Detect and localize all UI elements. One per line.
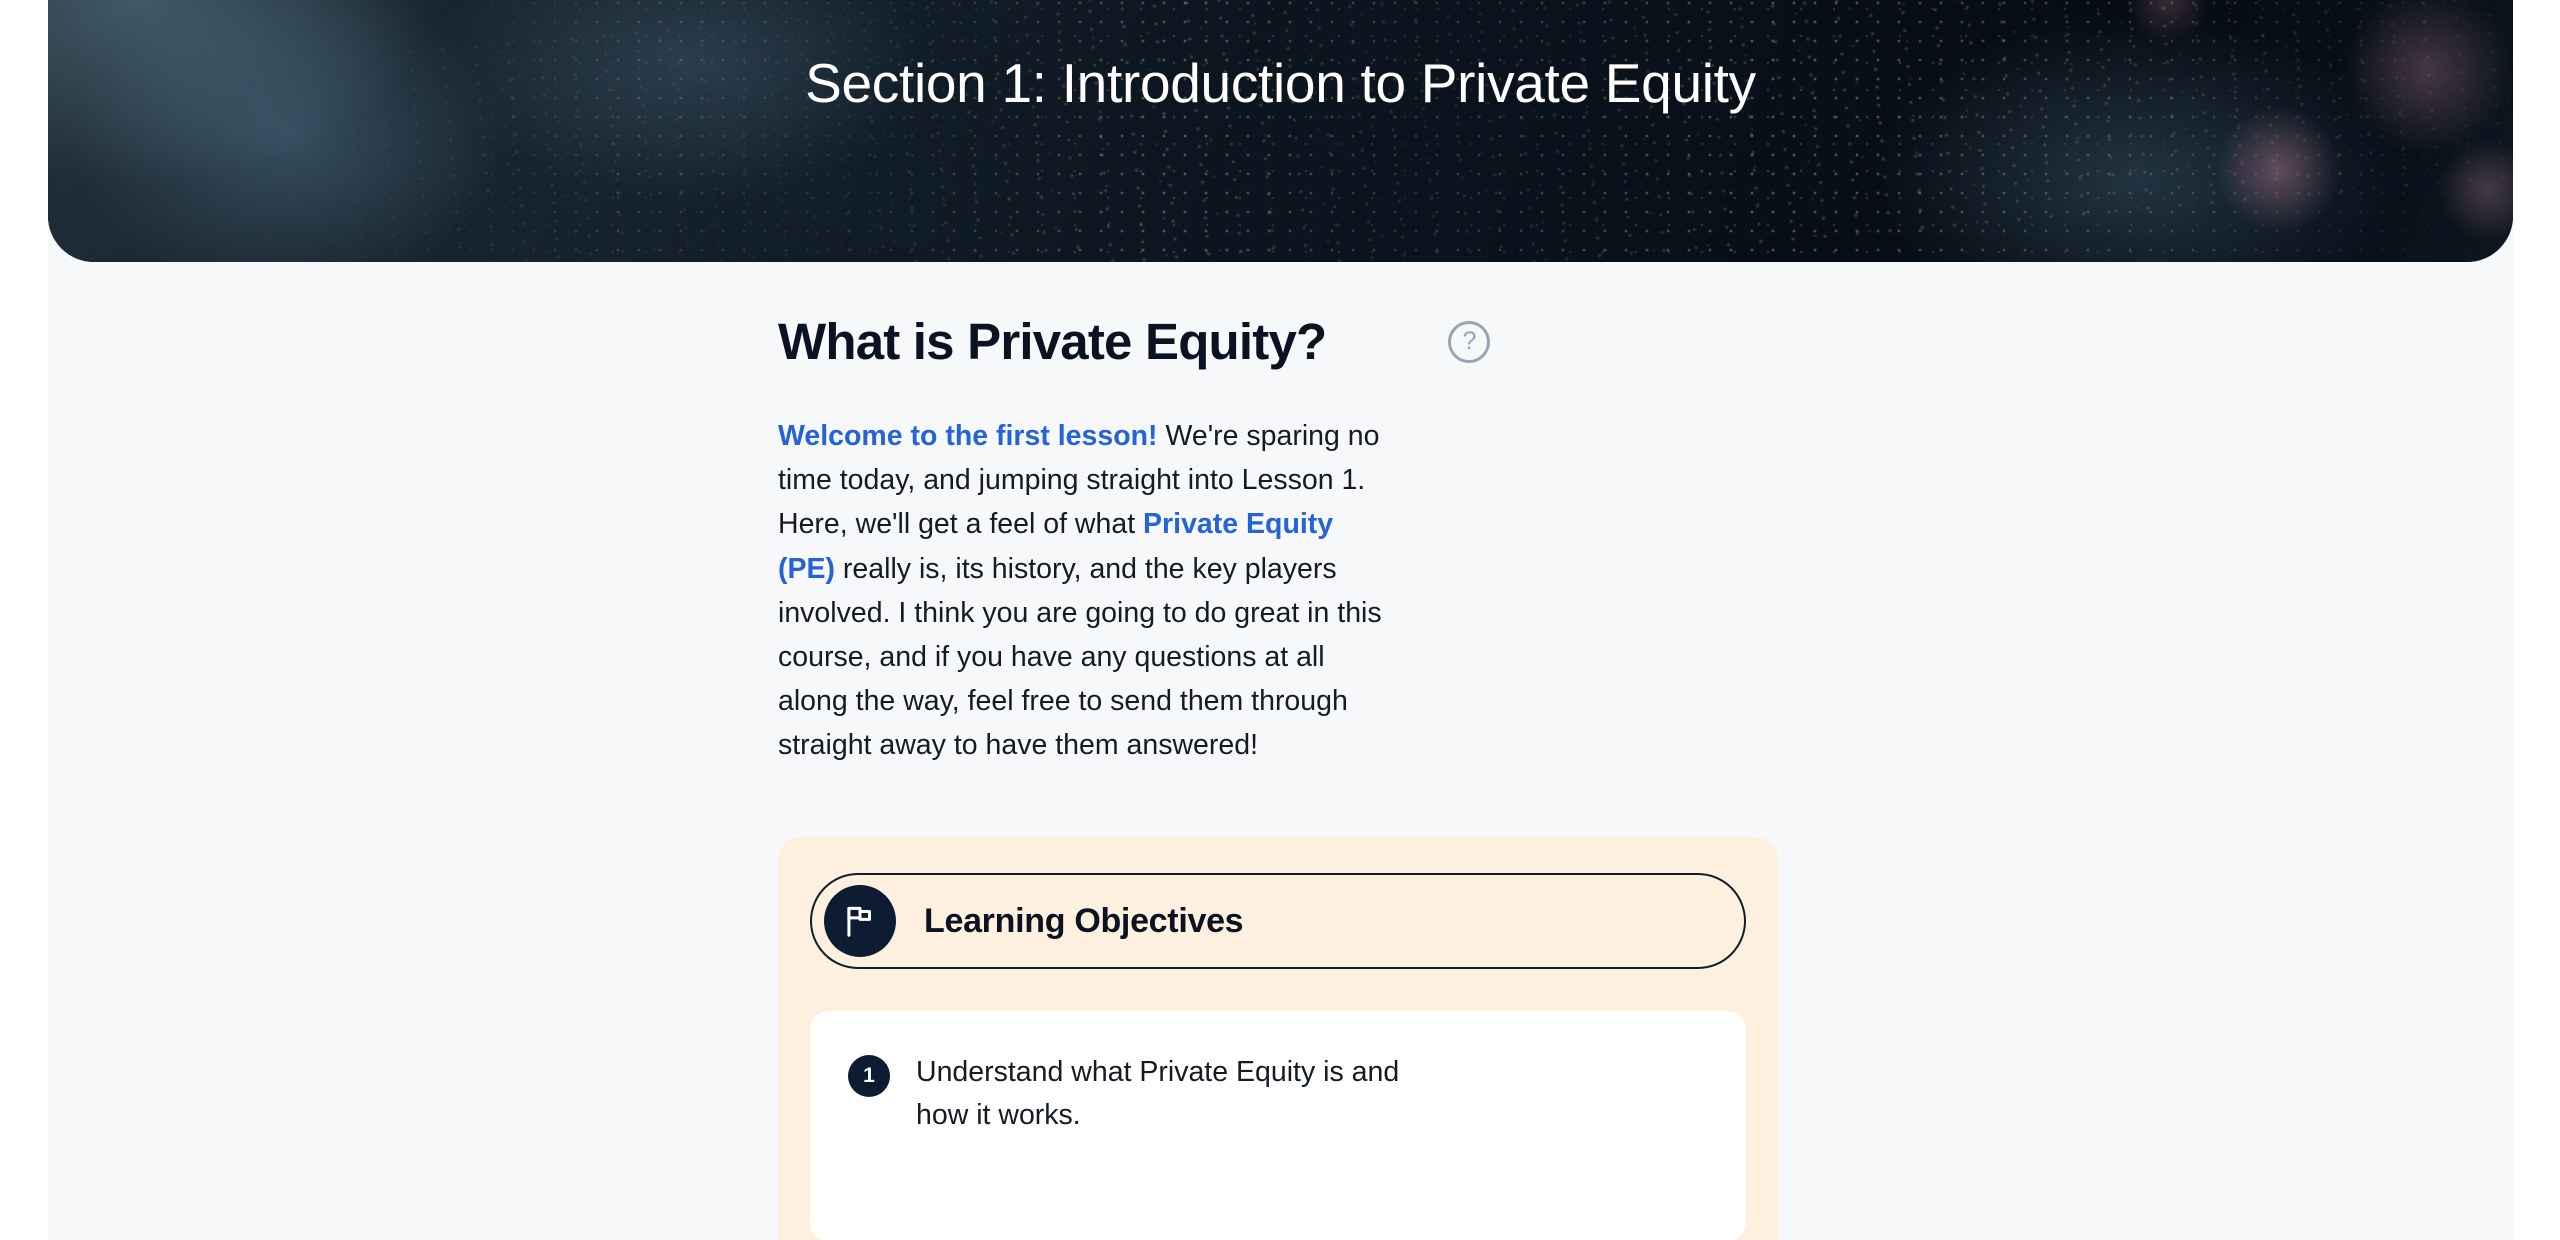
- learning-objectives-label: Learning Objectives: [924, 902, 1243, 941]
- page-title: What is Private Equity?: [778, 314, 1326, 370]
- objective-text: Understand what Private Equity is and ho…: [916, 1051, 1456, 1137]
- objectives-icon-badge: [824, 885, 896, 957]
- list-item: 1 Understand what Private Equity is and …: [848, 1051, 1708, 1137]
- hero-vignette-overlay: [48, 0, 2513, 262]
- section-hero-banner: Section 1: Introduction to Private Equit…: [48, 0, 2513, 262]
- lesson-content: What is Private Equity? ? Welcome to the…: [778, 262, 1778, 1240]
- question-mark-icon: ?: [1462, 329, 1476, 354]
- lesson-title-row: What is Private Equity? ?: [778, 262, 1778, 370]
- learning-objectives-card: Learning Objectives 1 Understand what Pr…: [778, 837, 1778, 1240]
- learning-objectives-header: Learning Objectives: [810, 873, 1746, 969]
- app-canvas: Section 1: Introduction to Private Equit…: [48, 0, 2513, 1240]
- page-root: Section 1: Introduction to Private Equit…: [0, 0, 2560, 1240]
- objectives-list: 1 Understand what Private Equity is and …: [810, 1011, 1746, 1240]
- lesson-text-segment-2: really is, its history, and the key play…: [778, 553, 1382, 762]
- help-button[interactable]: ?: [1448, 321, 1490, 363]
- lesson-intro-paragraph: Welcome to the first lesson! We're spari…: [778, 414, 1388, 767]
- lesson-lead-in: Welcome to the first lesson!: [778, 420, 1158, 452]
- flag-icon: [841, 902, 879, 940]
- objective-number-badge: 1: [848, 1055, 890, 1097]
- section-title: Section 1: Introduction to Private Equit…: [48, 50, 2513, 116]
